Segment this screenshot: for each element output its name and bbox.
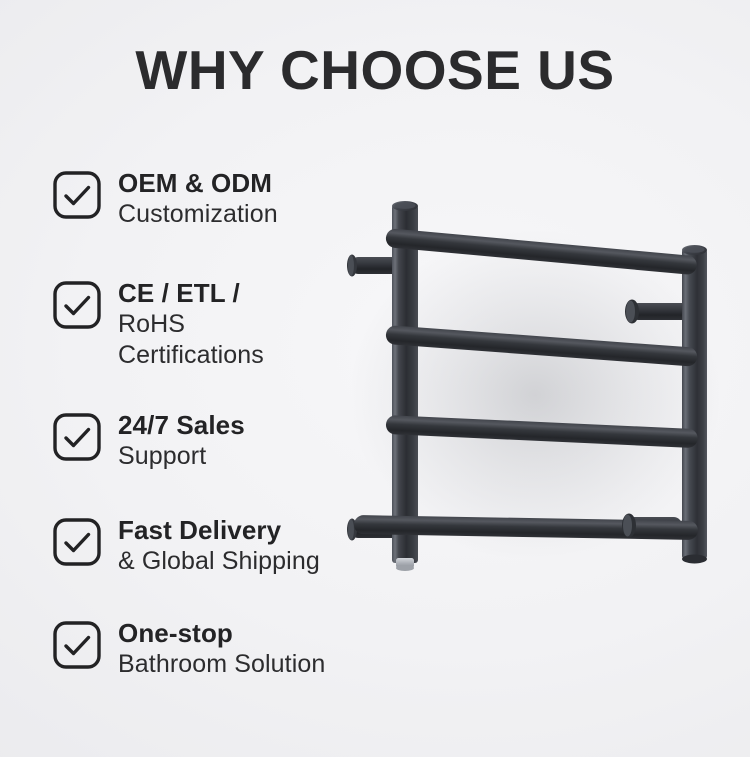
benefit-title: OEM & ODM xyxy=(118,168,272,198)
vertical-post-left xyxy=(392,201,418,571)
benefit-text: Fast Delivery & Global Shipping xyxy=(118,515,320,576)
benefit-title: 24/7 Sales xyxy=(118,410,245,440)
bracket-stub-top-right-front xyxy=(625,300,639,324)
benefit-subtitle-line: & Global Shipping xyxy=(118,546,320,576)
why-choose-us-poster: WHY CHOOSE US xyxy=(0,0,750,757)
benefit-title: One-stop xyxy=(118,618,233,648)
benefit-text: CE / ETL / RoHS Certifications xyxy=(118,278,264,370)
benefit-subtitle-line: RoHS xyxy=(118,309,264,339)
benefit-item-oem-odm[interactable]: OEM & ODM Customization xyxy=(52,168,278,229)
benefit-item-fast-delivery[interactable]: Fast Delivery & Global Shipping xyxy=(52,515,320,576)
benefit-item-one-stop-solution[interactable]: One-stop Bathroom Solution xyxy=(52,618,325,679)
benefit-title: CE / ETL / xyxy=(118,278,240,308)
page-title: WHY CHOOSE US xyxy=(0,38,750,102)
checkbox-checked-icon xyxy=(52,280,102,330)
benefit-subtitle-line: Certifications xyxy=(118,340,264,370)
benefit-text: 24/7 Sales Support xyxy=(118,410,245,471)
bracket-stub-bottom-right-front xyxy=(622,514,636,538)
benefit-text: One-stop Bathroom Solution xyxy=(118,618,325,679)
benefit-item-certifications[interactable]: CE / ETL / RoHS Certifications xyxy=(52,278,264,370)
vertical-post-right xyxy=(682,245,707,564)
checkbox-checked-icon xyxy=(52,517,102,567)
benefit-item-sales-support[interactable]: 24/7 Sales Support xyxy=(52,410,245,471)
benefit-subtitle-line: Customization xyxy=(118,199,278,229)
checkbox-checked-icon xyxy=(52,170,102,220)
checkbox-checked-icon xyxy=(52,620,102,670)
product-image-heated-towel-rail xyxy=(330,185,730,595)
benefit-subtitle-line: Support xyxy=(118,441,245,471)
benefit-title: Fast Delivery xyxy=(118,515,281,545)
benefit-text: OEM & ODM Customization xyxy=(118,168,278,229)
checkbox-checked-icon xyxy=(52,412,102,462)
benefit-subtitle-line: Bathroom Solution xyxy=(118,649,325,679)
